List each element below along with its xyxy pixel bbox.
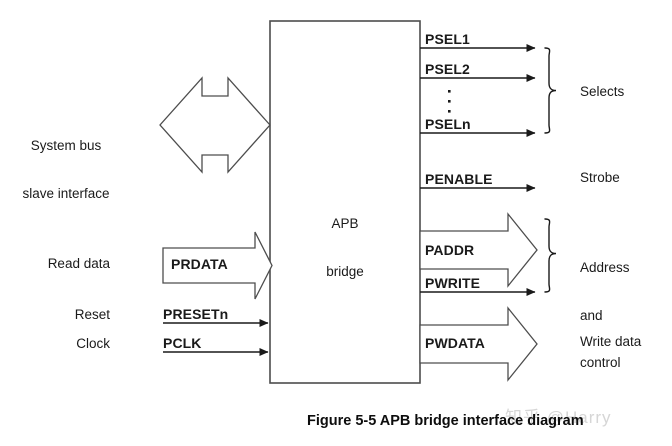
apb-bridge-title-line1: APB	[270, 216, 420, 232]
paddr-signal-label: PADDR	[425, 242, 474, 259]
figure-caption: Figure 5-5 APB bridge interface diagram	[307, 413, 584, 429]
strobe-group-label: Strobe	[580, 170, 620, 186]
write-data-group-label: Write data	[580, 334, 641, 350]
pwrite-signal-label: PWRITE	[425, 275, 480, 292]
pseln-signal-label: PSELn	[425, 116, 471, 133]
address-control-line1: Address	[580, 260, 630, 276]
pclk-signal-label: PCLK	[163, 335, 202, 352]
address-control-line3: control	[580, 355, 630, 371]
address-control-brace	[545, 219, 556, 292]
selects-group-label: Selects	[580, 84, 624, 100]
prdata-signal-label: PRDATA	[171, 256, 228, 273]
address-control-line2: and	[580, 308, 630, 324]
presetn-signal-label: PRESETn	[163, 306, 228, 323]
reset-label: Reset	[0, 307, 110, 323]
apb-bridge-title: APB bridge	[270, 184, 420, 311]
apb-bridge-title-line2: bridge	[270, 264, 420, 280]
vertical-dots-icon	[448, 90, 451, 113]
system-bus-bidirectional-arrow	[160, 78, 270, 172]
psel2-signal-label: PSEL2	[425, 61, 470, 78]
pwdata-signal-label: PWDATA	[425, 335, 485, 352]
read-data-label: Read data	[0, 256, 110, 272]
system-bus-label: System bus slave interface	[0, 106, 132, 233]
clock-label: Clock	[0, 336, 110, 352]
penable-signal-label: PENABLE	[425, 171, 493, 188]
apb-bridge-diagram: System bus slave interface Read data Res…	[0, 0, 672, 446]
system-bus-label-line2: slave interface	[0, 186, 132, 202]
psel1-signal-label: PSEL1	[425, 31, 470, 48]
address-control-group-label: Address and control	[580, 228, 630, 403]
system-bus-label-line1: System bus	[0, 138, 132, 154]
selects-brace	[545, 48, 556, 133]
